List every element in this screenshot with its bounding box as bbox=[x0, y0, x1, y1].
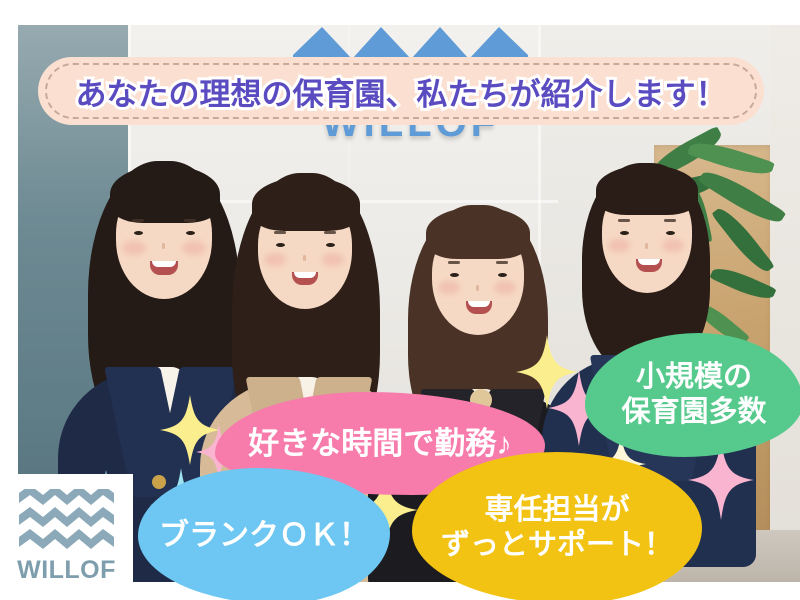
bubble-small-nursery-line-2: 保育園多数 bbox=[621, 395, 766, 430]
bubble-small-nursery-line-1: 小規模の bbox=[636, 360, 752, 395]
headline-banner: あなたの理想の保育園、私たちが紹介します！ bbox=[38, 57, 764, 125]
bubble-blank-ok-line-1: ブランクＯＫ！ bbox=[159, 518, 369, 555]
willof-wordmark: WILLOF bbox=[17, 556, 116, 585]
bubble-dedicated-support-line-2: ずっとサポート！ bbox=[441, 528, 673, 563]
ad-banner-creative: WILLOF bbox=[0, 0, 800, 600]
bubble-dedicated-support-line-1: 専任担当が bbox=[484, 493, 629, 528]
zigzag-wave-icon bbox=[19, 489, 114, 551]
bubble-flexible-hours-line-1: 好きな時間で勤務♪ bbox=[248, 425, 512, 463]
bubble-blank-ok: ブランクＯＫ！ bbox=[138, 468, 390, 600]
headline-text: あなたの理想の保育園、私たちが紹介します！ bbox=[76, 69, 727, 114]
willof-logo-card: WILLOF bbox=[0, 474, 133, 600]
bubble-dedicated-support: 専任担当が ずっとサポート！ bbox=[412, 452, 702, 600]
